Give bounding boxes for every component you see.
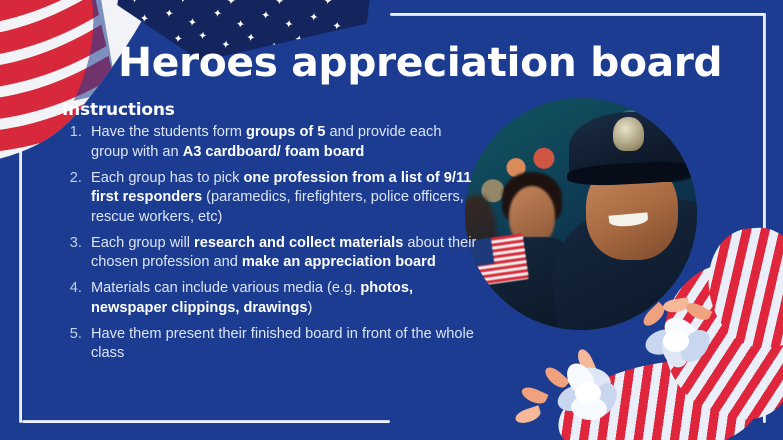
instruction-step: Have them present their finished board i… <box>86 325 481 364</box>
flower-petal <box>573 364 614 396</box>
frame-top-rule <box>390 13 766 16</box>
flower-petal <box>554 380 596 416</box>
step-emphasis: make an appreciation board <box>242 254 436 270</box>
step-text: ) <box>308 300 313 316</box>
frame-left-rule <box>19 145 22 423</box>
leaf-icon <box>519 384 548 406</box>
frame-right-rule <box>763 13 766 423</box>
officer-photo <box>465 98 697 330</box>
page-title: Heroes appreciation board <box>118 40 722 86</box>
frame-bottom-rule <box>22 420 390 423</box>
flower-center <box>575 382 601 404</box>
leaf-icon <box>575 347 597 376</box>
flower-petal <box>642 325 684 359</box>
flower-petal <box>584 378 623 421</box>
instruction-step: Each group will research and collect mat… <box>86 234 481 273</box>
leaf-icon <box>514 405 543 425</box>
flower-petal <box>570 394 608 422</box>
flag-ribbon-icon <box>551 349 763 440</box>
instruction-step: Materials can include various media (e.g… <box>86 279 481 318</box>
step-text: Each group has to pick <box>91 170 244 186</box>
step-emphasis: groups of 5 <box>246 124 325 140</box>
slide-canvas: ✦ ✦ ✦ ✦ ✦ ✦ ✦ ✦ ✦ ✦ ✦ ✦ ✦ ✦ ✦ ✦ ✦ ✦ ✦ ✦ … <box>0 0 783 440</box>
step-emphasis: A3 cardboard/ foam board <box>183 144 365 160</box>
flower-center <box>663 330 689 352</box>
instructions-heading: Instructions <box>62 100 175 120</box>
flower-petal <box>674 324 715 367</box>
step-text: Have the students form <box>91 124 246 140</box>
step-emphasis: research and collect materials <box>194 235 403 251</box>
step-text: Materials can include various media (e.g… <box>91 280 360 296</box>
instruction-step: Have the students form groups of 5 and p… <box>86 123 481 162</box>
step-text: Each group will <box>91 235 194 251</box>
instructions-list: Have the students form groups of 5 and p… <box>55 123 481 370</box>
police-badge-icon <box>613 117 643 152</box>
flower-petal <box>658 329 693 371</box>
step-text: Have them present their finished board i… <box>91 326 474 362</box>
flag-ribbon-icon <box>705 225 783 351</box>
leaf-icon <box>542 364 570 391</box>
flower-petal <box>561 358 600 401</box>
instruction-step: Each group has to pick one profession fr… <box>86 169 481 228</box>
